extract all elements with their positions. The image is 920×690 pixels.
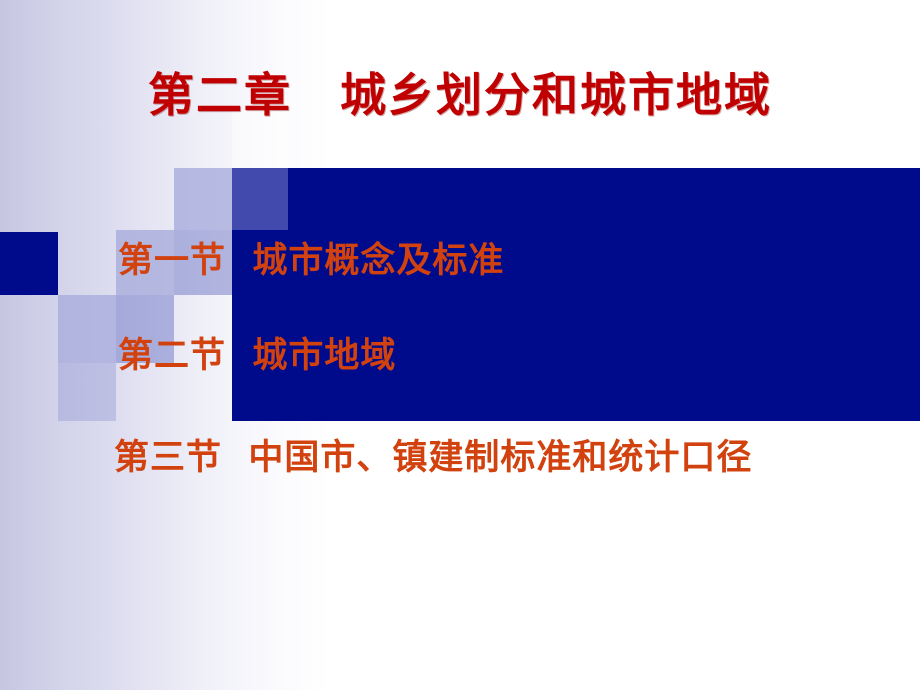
slide-title: 第二章 城乡划分和城市地域 — [0, 72, 920, 118]
decorative-square-3 — [232, 168, 288, 230]
section-heading-2: 第二节 城市地域 — [118, 338, 396, 373]
section-heading-3: 第三节 中国市、镇建制标准和统计口径 — [114, 440, 752, 475]
navy-content-band — [232, 168, 920, 421]
navy-accent-square — [0, 232, 58, 295]
decorative-square-2 — [174, 168, 232, 230]
decorative-square-8 — [58, 363, 116, 421]
section-heading-1: 第一节 城市概念及标准 — [118, 243, 504, 278]
presentation-slide: 第二章 城乡划分和城市地域 第一节 城市概念及标准 第二节 城市地域 第三节 中… — [0, 0, 920, 690]
decorative-square-6 — [58, 295, 116, 363]
